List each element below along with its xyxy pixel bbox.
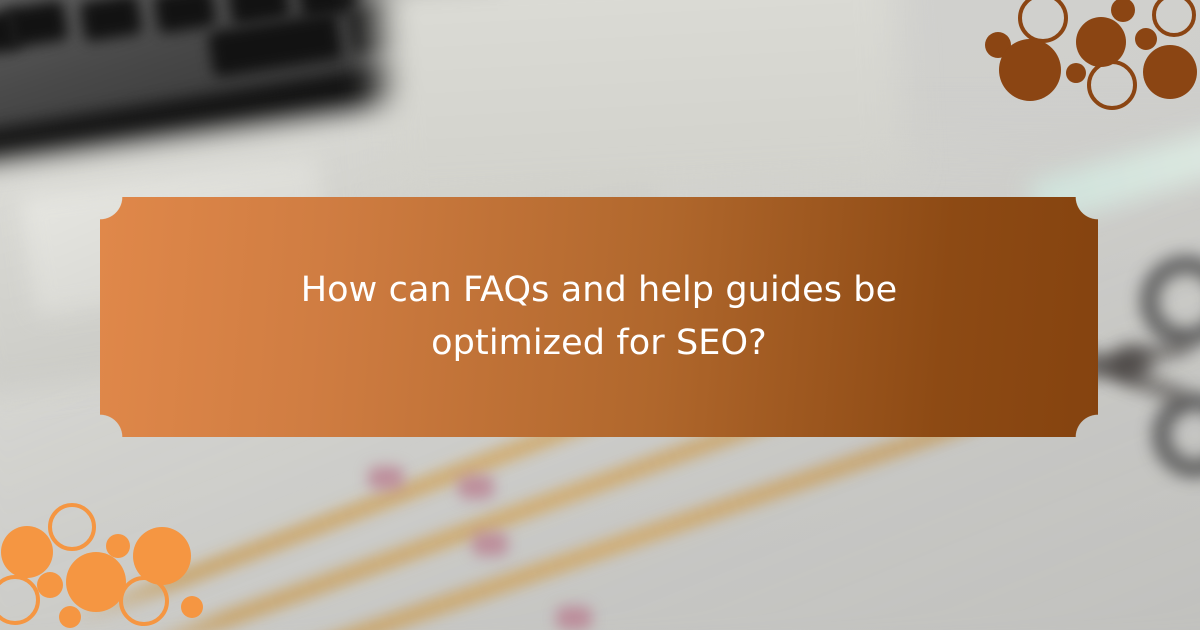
dot-cluster-bottom-left	[0, 505, 215, 630]
decor-dot	[1135, 28, 1157, 50]
decor-dot	[48, 503, 96, 551]
decor-dot	[1066, 63, 1086, 83]
paper-sheet	[374, 0, 905, 203]
pencil-eraser-2	[458, 475, 494, 499]
decor-dot	[66, 552, 126, 612]
decor-dot	[1111, 0, 1135, 22]
pencil-eraser-1	[368, 466, 404, 490]
dot-cluster-top-right	[988, 0, 1198, 110]
scissors-pivot	[1110, 344, 1152, 382]
decor-dot	[999, 39, 1061, 101]
decor-dot	[1076, 17, 1126, 67]
banner-headline: How can FAQs and help guides be optimize…	[100, 197, 1098, 437]
decor-dot	[119, 576, 169, 626]
decor-dot	[0, 575, 40, 625]
decor-dot	[181, 596, 203, 618]
headline-banner: How can FAQs and help guides be optimize…	[100, 197, 1098, 437]
decor-dot	[1143, 45, 1197, 99]
decor-dot	[1087, 60, 1137, 110]
pencil-eraser-4	[556, 606, 592, 630]
pencil-eraser-3	[472, 532, 508, 556]
decor-dot	[1152, 0, 1196, 37]
decor-dot	[37, 572, 63, 598]
decor-dot	[1018, 0, 1068, 43]
decor-dot	[1, 526, 53, 578]
decor-dot	[59, 606, 81, 628]
